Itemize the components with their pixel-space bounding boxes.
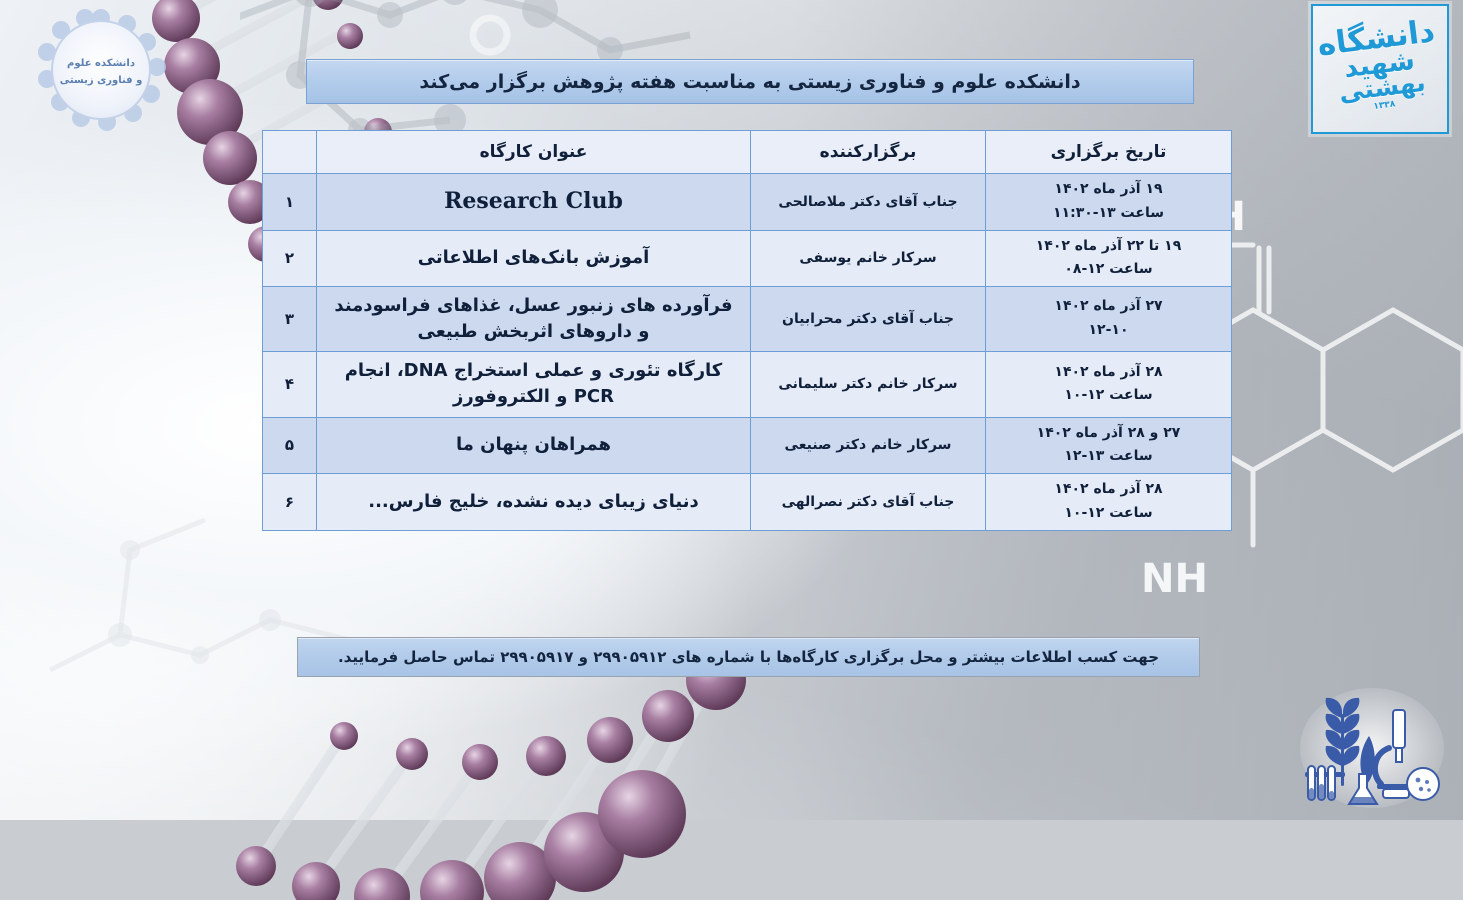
cell-workshop-title: Research Club	[317, 174, 751, 231]
cell-host: سرکار خانم دکتر صنیعی	[751, 417, 986, 474]
cell-host: جناب آقای دکتر محرابیان	[751, 287, 986, 352]
cell-row-number: ۲	[263, 230, 317, 287]
date-line-2: ساعت ۱۲-۱۰	[994, 502, 1223, 526]
cell-date: ۱۹ تا ۲۲ آذر ماه ۱۴۰۲ساعت ۱۲-۰۸	[986, 230, 1232, 287]
cell-row-number: ۴	[263, 352, 317, 417]
table-row: ۲۷ آذر ماه ۱۴۰۲۱۲-۱۰جناب آقای دکتر محراب…	[263, 287, 1232, 352]
cell-row-number: ۵	[263, 417, 317, 474]
date-line-1: ۲۸ آذر ماه ۱۴۰۲	[994, 478, 1223, 502]
cell-date: ۲۷ آذر ماه ۱۴۰۲۱۲-۱۰	[986, 287, 1232, 352]
column-header-number	[263, 131, 317, 174]
seal-line-1: دانشکده علوم	[67, 55, 135, 73]
date-line-2: ساعت ۱۳-۱۲	[994, 445, 1223, 469]
seal-text-block: دانشکده علوم و فناوری زیستی	[28, 18, 174, 126]
biotech-lab-logo	[1297, 684, 1447, 812]
university-logo: دانشگاه شهید بهشتی ۱۳۳۸	[1311, 4, 1449, 134]
cell-workshop-title: فرآورده های زنبور عسل، غذاهای فراسودمند …	[317, 287, 751, 352]
cell-row-number: ۳	[263, 287, 317, 352]
date-line-1: ۱۹ آذر ماه ۱۴۰۲	[994, 178, 1223, 202]
table-row: ۲۸ آذر ماه ۱۴۰۲ساعت ۱۲-۱۰سرکار خانم دکتر…	[263, 352, 1232, 417]
date-line-2: ساعت ۱۲-۱۰	[994, 384, 1223, 408]
cell-icon	[1407, 768, 1439, 800]
cell-date: ۱۹ آذر ماه ۱۴۰۲ساعت ۱۳-۱۱:۳۰	[986, 174, 1232, 231]
university-logo-calligraphy: دانشگاه شهید بهشتی ۱۳۳۸	[1316, 20, 1443, 119]
table-header-row: تاریخ برگزاری برگزارکننده عنوان کارگاه	[263, 131, 1232, 174]
cell-workshop-title: همراهان پنهان ما	[317, 417, 751, 474]
table-row: ۱۹ آذر ماه ۱۴۰۲ساعت ۱۳-۱۱:۳۰جناب آقای دک…	[263, 174, 1232, 231]
chem-label-nh: NH	[1141, 556, 1208, 602]
cell-row-number: ۱	[263, 174, 317, 231]
cell-date: ۲۸ آذر ماه ۱۴۰۲ساعت ۱۲-۱۰	[986, 474, 1232, 531]
table-row: ۱۹ تا ۲۲ آذر ماه ۱۴۰۲ساعت ۱۲-۰۸سرکار خان…	[263, 230, 1232, 287]
workshop-schedule-table-wrapper: تاریخ برگزاری برگزارکننده عنوان کارگاه ۱…	[263, 130, 1232, 531]
cell-row-number: ۶	[263, 474, 317, 531]
date-line-1: ۲۸ آذر ماه ۱۴۰۲	[994, 361, 1223, 385]
table-row: ۲۷ و ۲۸ آذر ماه ۱۴۰۲ساعت ۱۳-۱۲سرکار خانم…	[263, 417, 1232, 474]
column-header-date: تاریخ برگزاری	[986, 131, 1232, 174]
date-line-2: ۱۲-۱۰	[994, 319, 1223, 343]
cell-date: ۲۷ و ۲۸ آذر ماه ۱۴۰۲ساعت ۱۳-۱۲	[986, 417, 1232, 474]
cell-workshop-title: کارگاه تئوری و عملی استخراج DNA، انجام P…	[317, 352, 751, 417]
workshop-schedule-table: تاریخ برگزاری برگزارکننده عنوان کارگاه ۱…	[262, 130, 1232, 531]
faculty-seal: دانشکده علوم و فناوری زیستی	[16, 8, 186, 136]
header-banner-text: دانشکده علوم و فناوری زیستی به مناسبت هف…	[419, 71, 1080, 93]
date-line-1: ۲۷ آذر ماه ۱۴۰۲	[994, 295, 1223, 319]
column-header-host: برگزارکننده	[751, 131, 986, 174]
date-line-1: ۲۷ و ۲۸ آذر ماه ۱۴۰۲	[994, 422, 1223, 446]
cell-date: ۲۸ آذر ماه ۱۴۰۲ساعت ۱۲-۱۰	[986, 352, 1232, 417]
cell-host: سرکار خانم یوسفی	[751, 230, 986, 287]
cell-host: سرکار خانم دکتر سلیمانی	[751, 352, 986, 417]
date-line-2: ساعت ۱۳-۱۱:۳۰	[994, 202, 1223, 226]
date-line-2: ساعت ۱۲-۰۸	[994, 258, 1223, 282]
footer-contact-text: جهت کسب اطلاعات بیشتر و محل برگزاری کارگ…	[338, 648, 1159, 666]
cell-host: جناب آقای دکتر نصرالهی	[751, 474, 986, 531]
cell-workshop-title: دنیای زیبای دیده نشده، خلیج فارس...	[317, 474, 751, 531]
table-body: ۱۹ آذر ماه ۱۴۰۲ساعت ۱۳-۱۱:۳۰جناب آقای دک…	[263, 174, 1232, 531]
footer-contact-banner: جهت کسب اطلاعات بیشتر و محل برگزاری کارگ…	[297, 637, 1200, 677]
header-banner: دانشکده علوم و فناوری زیستی به مناسبت هف…	[306, 59, 1194, 104]
date-line-1: ۱۹ تا ۲۲ آذر ماه ۱۴۰۲	[994, 235, 1223, 259]
seal-line-2: و فناوری زیستی	[60, 72, 143, 90]
cell-workshop-title: آموزش بانک‌های اطلاعاتی	[317, 230, 751, 287]
table-row: ۲۸ آذر ماه ۱۴۰۲ساعت ۱۲-۱۰جناب آقای دکتر …	[263, 474, 1232, 531]
column-header-title: عنوان کارگاه	[317, 131, 751, 174]
cell-host: جناب آقای دکتر ملاصالحی	[751, 174, 986, 231]
